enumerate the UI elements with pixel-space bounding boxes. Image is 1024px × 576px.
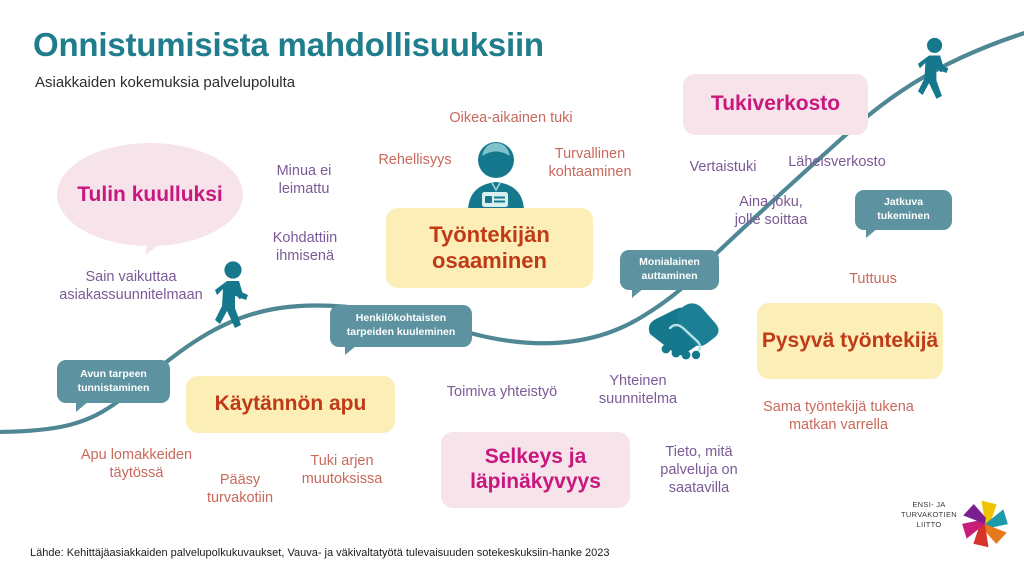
theme-box-label: Selkeys ja läpinäkyvyys — [441, 445, 630, 495]
pinwheel-logo-icon — [956, 495, 1014, 553]
caption-tuki-arjen-muutoksissa: Tuki arjen muutoksissa — [288, 452, 396, 488]
caption-vertaistuki: Vertaistuki — [673, 158, 773, 176]
caption-aina-joku: Aina joku, jolle soittaa — [717, 193, 825, 229]
page-title: Onnistumisista mahdollisuuksiin — [33, 26, 544, 64]
chip-tail — [345, 345, 357, 355]
caption-yhteinen-suunnitelma: Yhteinen suunnitelma — [583, 372, 693, 408]
speech-bubble-tail — [145, 226, 177, 261]
theme-box-kaytannon-apu[interactable]: Käytännön apu — [186, 376, 395, 433]
logo: ENSI- JA TURVAKOTIEN LIITTO — [898, 495, 1010, 557]
page-subtitle: Asiakkaiden kokemuksia palvelupolulta — [35, 74, 295, 91]
walking-person-icon — [918, 38, 948, 99]
chip-tail — [866, 228, 878, 238]
caption-toimiva-yhteistyo: Toimiva yhteistyö — [427, 383, 577, 401]
theme-box-selkeys-lapinakyvyys[interactable]: Selkeys ja läpinäkyvyys — [441, 432, 630, 508]
caption-laheisverkosto: Läheisverkosto — [771, 153, 903, 171]
footer-source-text: Lähde: Kehittäjäasiakkaiden palvelupolku… — [30, 547, 610, 559]
caption-kohdattiin-ihmisena: Kohdattiin ihmisenä — [250, 229, 360, 265]
caption-sama-tyontekija: Sama työntekijä tukena matkan varrella — [736, 398, 941, 434]
caption-tieto-mita-palveluja: Tieto, mitä palveluja on saatavilla — [645, 443, 753, 497]
journey-step-label: Avun tarpeen tunnistaminen — [65, 368, 162, 396]
caption-rehellisyys: Rehellisyys — [366, 151, 464, 169]
worker-with-id-badge-icon — [468, 142, 524, 212]
theme-box-label: Pysyvä työntekijä — [762, 329, 938, 354]
journey-step-jatkuva-tukeminen[interactable]: Jatkuva tukeminen — [855, 190, 952, 230]
chip-tail — [76, 401, 89, 412]
journey-step-henkilokohtaisten-tarpeiden-kuuleminen[interactable]: Henkilökohtaisten tarpeiden kuuleminen — [330, 305, 472, 347]
caption-sain-vaikuttaa: Sain vaikuttaa asiakassuunnitelmaan — [36, 268, 226, 304]
chip-tail — [632, 288, 644, 298]
theme-box-tyontekijan-osaaminen[interactable]: Työntekijän osaaminen — [386, 208, 593, 288]
theme-box-label: Tulin kuulluksi — [77, 182, 222, 207]
caption-apu-lomakkeiden: Apu lomakkeiden täytössä — [59, 446, 214, 482]
logo-text: ENSI- JA TURVAKOTIEN LIITTO — [898, 500, 960, 530]
journey-step-label: Monialainen auttaminen — [628, 256, 711, 284]
theme-box-label: Työntekijän osaaminen — [386, 222, 593, 274]
caption-tuttuus: Tuttuus — [824, 270, 922, 288]
theme-box-label: Käytännön apu — [215, 392, 367, 417]
caption-paasy-turvakotiin: Pääsy turvakotiin — [193, 471, 287, 507]
theme-box-tukiverkosto[interactable]: Tukiverkosto — [683, 74, 868, 135]
caption-turvallinen-kohtaaminen: Turvallinen kohtaaminen — [527, 145, 653, 181]
theme-box-label: Tukiverkosto — [711, 92, 840, 117]
journey-step-label: Jatkuva tukeminen — [863, 196, 944, 224]
journey-step-avun-tarpeen-tunnistaminen[interactable]: Avun tarpeen tunnistaminen — [57, 360, 170, 403]
journey-step-label: Henkilökohtaisten tarpeiden kuuleminen — [338, 312, 464, 340]
theme-box-pysyva-tyontekija[interactable]: Pysyvä työntekijä — [757, 303, 943, 379]
caption-oikea-aikainen-tuki: Oikea-aikainen tuki — [428, 109, 594, 127]
journey-step-monialainen-auttaminen[interactable]: Monialainen auttaminen — [620, 250, 719, 290]
caption-minua-ei-leimattu: Minua ei leimattu — [252, 162, 356, 198]
infographic-canvas: Onnistumisista mahdollisuuksiin Asiakkai… — [0, 0, 1024, 576]
handshake-icon — [649, 303, 719, 359]
